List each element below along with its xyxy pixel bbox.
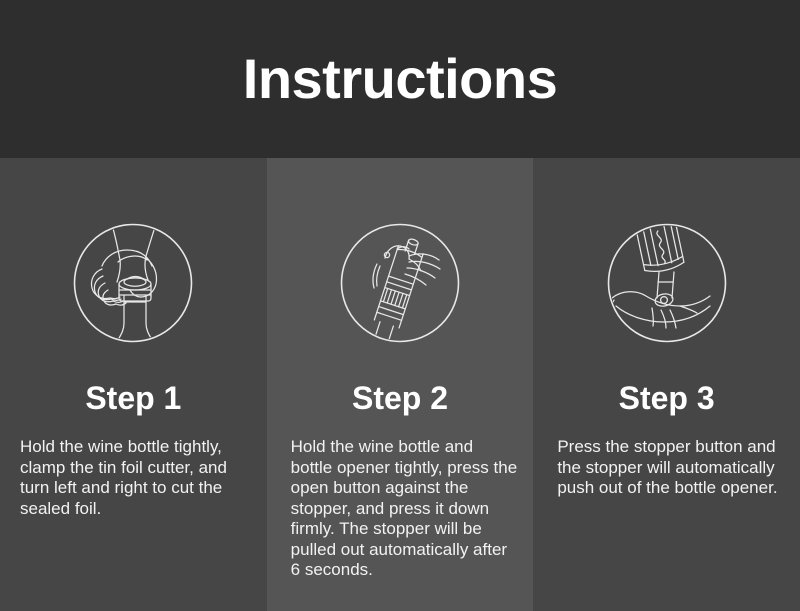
step-2-illustration — [339, 222, 461, 344]
step-2-body: Hold the wine bottle and bottle opener t… — [267, 437, 534, 581]
step-3-illustration — [606, 222, 728, 344]
step-panel-2: Step 2 Hold the wine bottle and bottle o… — [267, 158, 534, 611]
hand-gripping-foil-cutter-on-bottle-neck-icon — [72, 222, 194, 344]
step-3-body: Press the stopper button and the stopper… — [533, 437, 800, 499]
step-panel-1: Step 1 Hold the wine bottle tightly, cla… — [0, 158, 267, 611]
step-3-title: Step 3 — [619, 382, 715, 414]
page-header: Instructions — [0, 0, 800, 158]
hand-pressing-bottle-opener-button-icon — [339, 222, 461, 344]
opener-ejecting-stopper-into-palm-icon — [606, 222, 728, 344]
steps-container: Step 1 Hold the wine bottle tightly, cla… — [0, 158, 800, 611]
step-1-title: Step 1 — [85, 382, 181, 414]
step-1-body: Hold the wine bottle tightly, clamp the … — [0, 437, 267, 519]
page-title: Instructions — [243, 51, 557, 107]
instructions-page: Instructions — [0, 0, 800, 611]
step-2-title: Step 2 — [352, 382, 448, 414]
step-panel-3: Step 3 Press the stopper button and the … — [533, 158, 800, 611]
step-1-illustration — [72, 222, 194, 344]
